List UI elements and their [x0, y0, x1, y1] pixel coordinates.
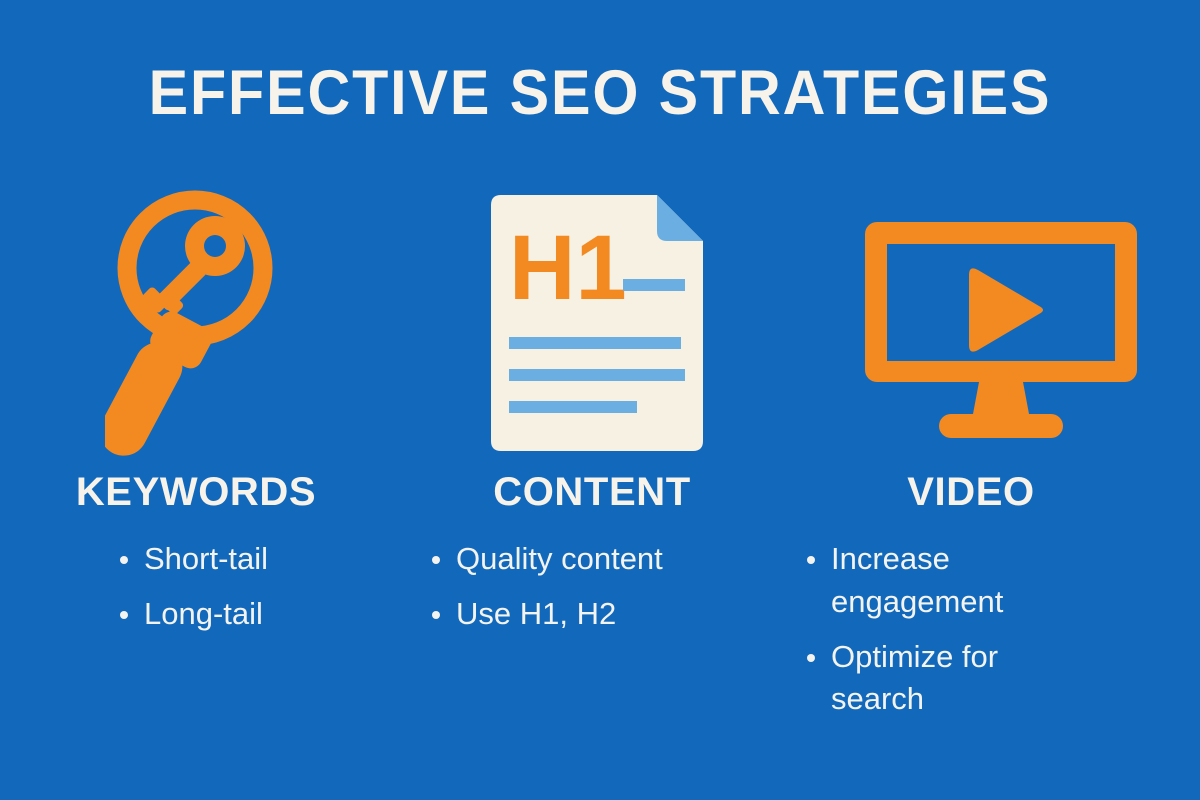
column-keywords: KEYWORDS Short-tail Long-tail: [0, 180, 400, 800]
bullet-list-content: Quality content Use H1, H2: [430, 538, 780, 636]
document-line-1: [509, 337, 681, 349]
magnifier-key-icon: [105, 190, 305, 460]
bullet-list-video: Increase engagement Optimize for search: [805, 538, 1200, 721]
monitor-base: [939, 414, 1063, 438]
list-item: Short-tail: [118, 538, 400, 581]
page-title: EFFECTIVE SEO STRATEGIES: [36, 62, 1164, 125]
document-rule-short: [623, 279, 685, 291]
content-icon-slot: H1: [400, 180, 780, 470]
list-item: Quality content: [430, 538, 776, 581]
column-content: H1 CONTENT Quality content Use H1, H2: [400, 180, 780, 800]
bullet-list-keywords: Short-tail Long-tail: [118, 538, 400, 636]
column-video: VIDEO Increase engagement Optimize for s…: [780, 180, 1200, 800]
columns-container: KEYWORDS Short-tail Long-tail H1: [0, 180, 1200, 800]
monitor-stand: [973, 382, 1029, 414]
list-item: Long-tail: [118, 593, 400, 636]
list-item: Use H1, H2: [430, 593, 776, 636]
document-fold-corner: [657, 195, 703, 241]
list-item: Increase engagement: [805, 538, 1091, 624]
document-h1-text: H1: [509, 217, 627, 319]
seo-infographic: EFFECTIVE SEO STRATEGIES: [0, 0, 1200, 800]
key-shape: [141, 216, 245, 316]
list-item: Optimize for search: [805, 636, 1091, 722]
monitor-play-icon: [861, 200, 1141, 450]
document-h1-icon: H1: [481, 191, 707, 459]
heading-video: VIDEO: [780, 472, 1200, 512]
video-icon-slot: [780, 180, 1200, 470]
document-line-3: [509, 401, 637, 413]
heading-content: CONTENT: [400, 472, 780, 512]
keywords-icon-slot: [0, 180, 400, 470]
heading-keywords: KEYWORDS: [0, 472, 400, 512]
key-hole: [204, 235, 226, 257]
document-line-2: [509, 369, 685, 381]
